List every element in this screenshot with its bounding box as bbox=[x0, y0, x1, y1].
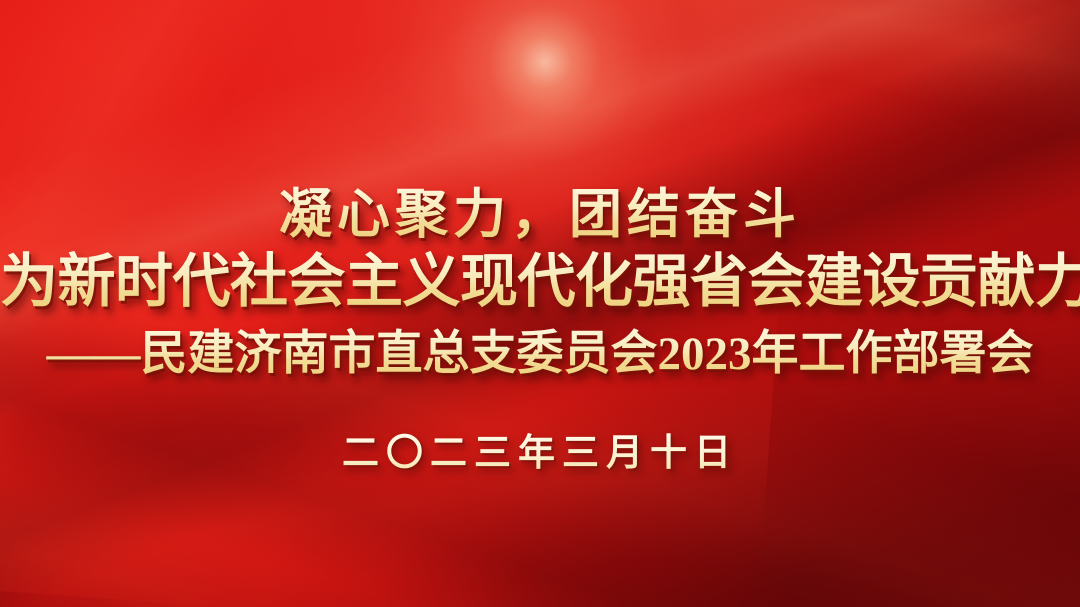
banner-canvas: 凝心聚力，团结奋斗 为新时代社会主义现代化强省会建设贡献力量 ——民建济南市直总… bbox=[0, 0, 1080, 607]
headline-line-3-subtitle: ——民建济南市直总支委员会2023年工作部署会 bbox=[0, 328, 1080, 380]
headline-line-1: 凝心聚力，团结奋斗 bbox=[0, 186, 1080, 244]
headline-line-2: 为新时代社会主义现代化强省会建设贡献力量 bbox=[0, 251, 1080, 313]
event-date: 二〇二三年三月十日 bbox=[0, 432, 1080, 476]
title-block: 凝心聚力，团结奋斗 为新时代社会主义现代化强省会建设贡献力量 ——民建济南市直总… bbox=[0, 0, 1080, 607]
